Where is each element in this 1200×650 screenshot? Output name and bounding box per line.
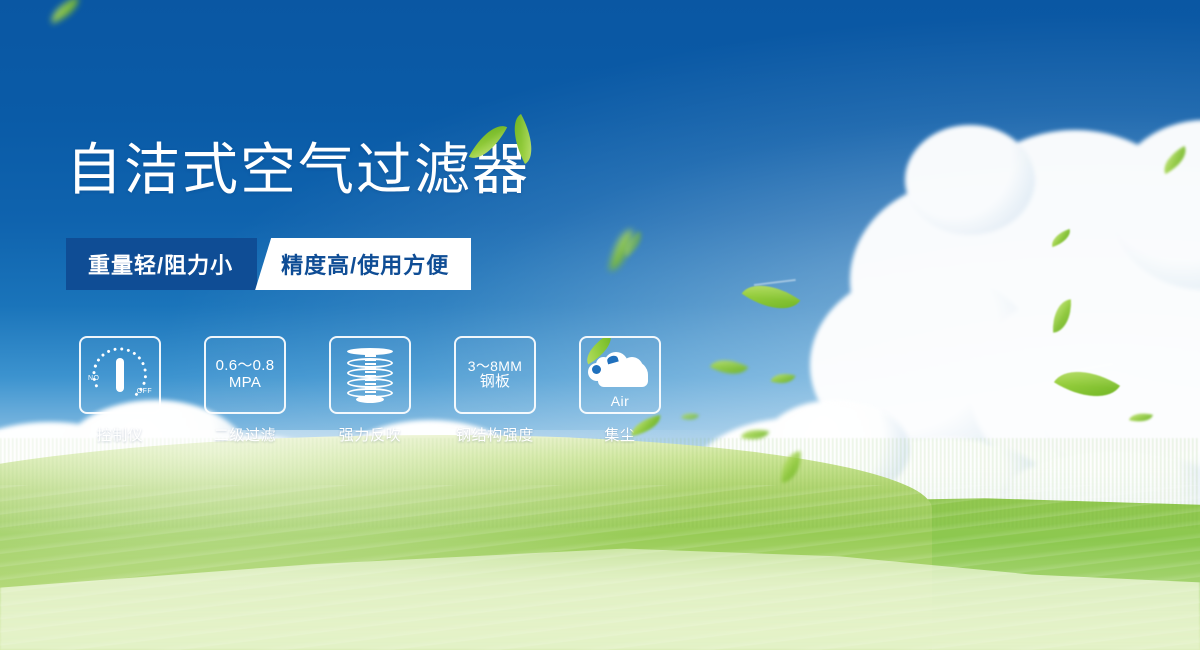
feature-item-steel-strength[interactable]: 3～8MM 钢板 钢结构强度 — [445, 336, 545, 445]
feature-icon-box: Air — [579, 336, 661, 414]
feature-icon-box: NO OFF — [79, 336, 161, 414]
feature-icon-box: 0.6～0.8 MPA — [204, 336, 286, 414]
feature-icon-box: 3～8MM 钢板 — [454, 336, 536, 414]
feature-item-dust-collection[interactable]: Air 集尘 — [570, 336, 670, 445]
feature-list: NO OFF — [70, 336, 670, 445]
pressure-unit: MPA — [229, 375, 261, 392]
subtitle-bar: 重量轻/阻力小 精度高/使用方便 — [66, 238, 471, 290]
grass-field — [0, 430, 1200, 650]
filter-coil-icon — [344, 346, 396, 404]
control-dial-icon: NO OFF — [88, 345, 152, 405]
feature-item-secondary-filtration[interactable]: 0.6～0.8 MPA 二级过滤 — [195, 336, 295, 445]
product-banner: 自洁式空气过滤器 重量轻/阻力小 精度高/使用方便 NO OFF — [0, 0, 1200, 650]
feature-label: 二级过滤 — [214, 424, 276, 445]
subtitle-left-tag: 重量轻/阻力小 — [66, 238, 257, 290]
feature-item-control-instrument[interactable]: NO OFF — [70, 336, 170, 445]
feature-label: 控制仪 — [97, 424, 144, 445]
air-label: Air — [584, 393, 656, 409]
subtitle-right-tag: 精度高/使用方便 — [255, 238, 471, 290]
page-title: 自洁式空气过滤器 — [66, 142, 530, 198]
pressure-value: 0.6～0.8 — [216, 358, 275, 375]
feature-item-strong-backflush[interactable]: 强力反吹 — [320, 336, 420, 445]
feature-icon-box — [329, 336, 411, 414]
feature-label: 钢结构强度 — [456, 424, 534, 445]
air-cloud-icon: Air — [584, 345, 656, 405]
steel-material: 钢板 — [480, 374, 511, 391]
feature-label: 强力反吹 — [339, 424, 401, 445]
